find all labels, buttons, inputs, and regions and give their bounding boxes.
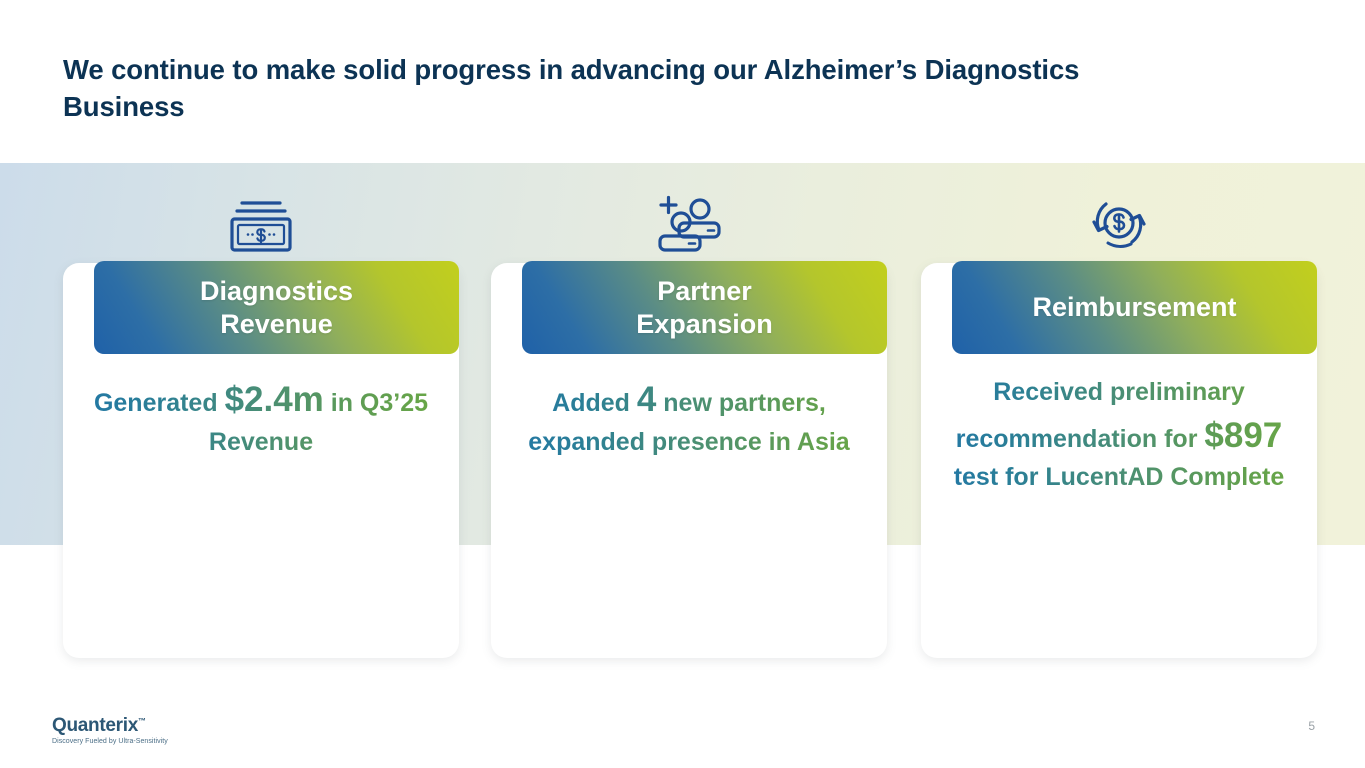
card-header-banner: Diagnostics Revenue	[94, 261, 459, 354]
logo-tagline: Discovery Fueled by Ultra-Sensitivity	[52, 738, 168, 745]
highlight-card-reimbursement[interactable]: Reimbursement Received preliminary recom…	[921, 190, 1317, 660]
highlight-card-diagnostics-revenue[interactable]: Diagnostics Revenue Generated $2.4m in Q…	[63, 190, 459, 660]
quanterix-logo: Quanterix™ Discovery Fueled by Ultra-Sen…	[52, 716, 168, 745]
highlight-cards-row: Diagnostics Revenue Generated $2.4m in Q…	[0, 190, 1365, 670]
card-body-text: Added 4 new partners, expanded presence …	[505, 375, 873, 460]
highlight-card-partner-expansion[interactable]: Partner Expansion Added 4 new partners, …	[491, 190, 887, 660]
card-surface: Reimbursement Received preliminary recom…	[921, 263, 1317, 658]
card-heading: Partner Expansion	[636, 275, 773, 341]
page-number: 5	[1308, 719, 1315, 733]
card-heading: Diagnostics Revenue	[200, 275, 353, 341]
card-heading: Reimbursement	[1032, 291, 1236, 324]
banknotes-dollar-icon	[63, 190, 459, 256]
card-body-text: Received preliminary recommendation for …	[935, 375, 1303, 496]
body-run: Generated	[94, 389, 225, 417]
emphasis-figure: $897	[1204, 416, 1282, 455]
card-surface: Partner Expansion Added 4 new partners, …	[491, 263, 887, 658]
add-partners-icon	[491, 190, 887, 256]
dollar-refresh-cycle-icon	[921, 190, 1317, 256]
emphasis-figure: 4	[637, 380, 656, 419]
body-run: test for LucentAD Complete	[954, 463, 1285, 491]
page-title: We continue to make solid progress in ad…	[63, 52, 1163, 125]
body-run: Received preliminary recommendation for	[956, 378, 1245, 453]
body-run: Added	[552, 389, 637, 417]
card-header-banner: Reimbursement	[952, 261, 1317, 354]
trademark-icon: ™	[138, 717, 146, 726]
card-body-text: Generated $2.4m in Q3’25 Revenue	[77, 375, 445, 460]
logo-wordmark: Quanterix™	[52, 716, 168, 735]
logo-name-text: Quanterix	[52, 715, 138, 736]
card-surface: Diagnostics Revenue Generated $2.4m in Q…	[63, 263, 459, 658]
card-header-banner: Partner Expansion	[522, 261, 887, 354]
emphasis-figure: $2.4m	[225, 380, 324, 419]
